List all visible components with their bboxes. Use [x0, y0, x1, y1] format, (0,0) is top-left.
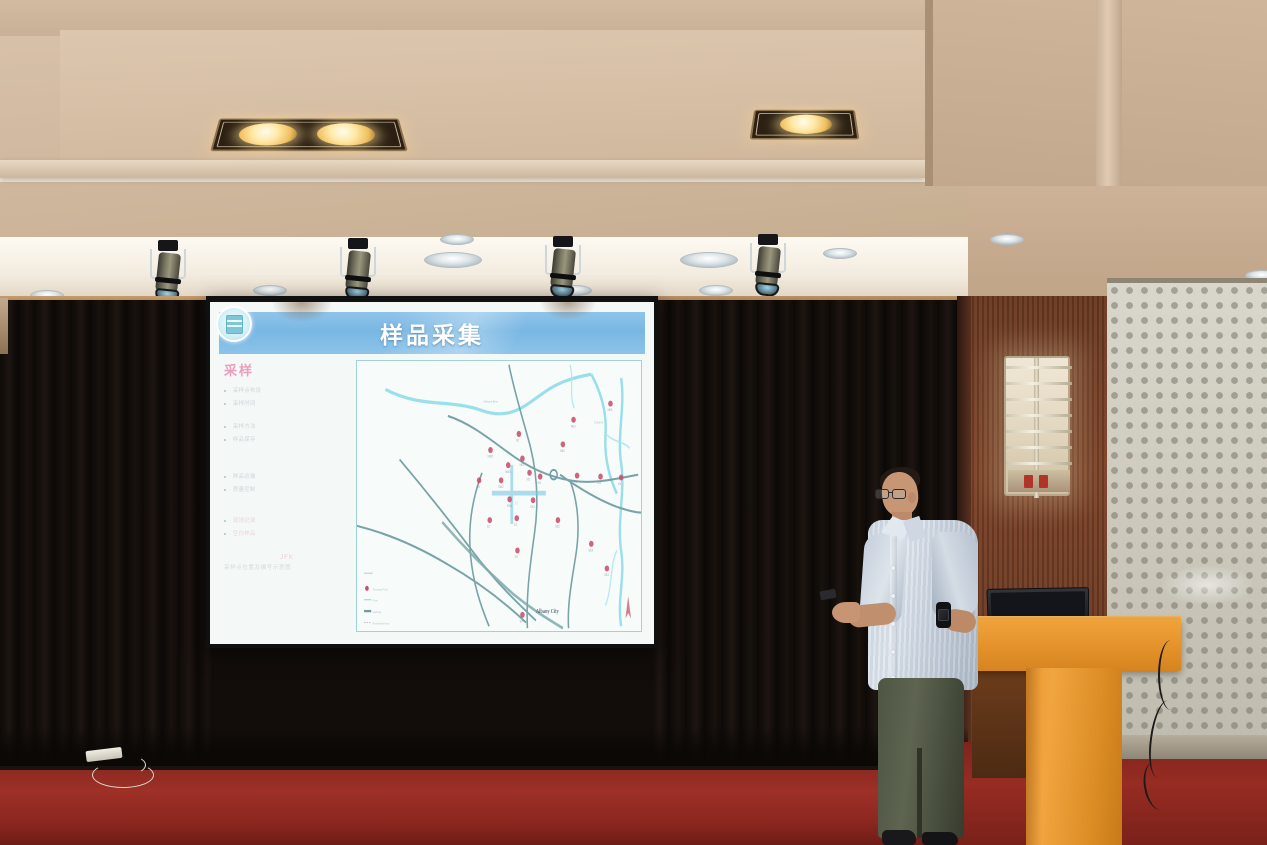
- recessed-downlight: [990, 234, 1024, 245]
- map-sampling-point-label: SE1: [530, 504, 535, 509]
- map-sampling-point: [477, 477, 482, 483]
- map-sampling-point-label: W1: [537, 481, 541, 486]
- recessed-downlight: [440, 234, 474, 245]
- map-sampling-point: [561, 441, 566, 447]
- map-sampling-point-label: SE3: [588, 548, 593, 553]
- map-sampling-point-label: NE4: [608, 408, 613, 413]
- slide-subtitle: 采样: [224, 360, 350, 379]
- recessed-downlight: [680, 252, 738, 268]
- map-sampling-point-label: W2: [476, 485, 480, 490]
- svg-text:River: River: [373, 598, 378, 603]
- shoe-right: [922, 832, 958, 845]
- stage-curtain-left: [0, 300, 214, 770]
- map-sampling-point-label: S3: [515, 555, 518, 560]
- map-sampling-point-label: SW2: [498, 485, 504, 490]
- map-sampling-point-label: NE2: [560, 449, 565, 454]
- perforated-acoustic-panel: [1107, 283, 1267, 783]
- svg-text:Highway: Highway: [373, 610, 382, 615]
- slide-footnote-label: JFK: [224, 554, 350, 561]
- map-sampling-point: [571, 417, 576, 423]
- presentation-slide: 样品采集 采样 · 采样点布设 · 采样时间 · 采样方法 · 样品保存 · 样…: [210, 302, 654, 644]
- map-river-label: Mohawk River: [483, 399, 499, 404]
- sconce-red-accent: [1039, 475, 1048, 488]
- map-sampling-point-label: E3: [598, 481, 601, 486]
- ceiling-soffit: [0, 237, 968, 300]
- ceiling-beam: [1096, 0, 1122, 210]
- map-sampling-point-label: NE3: [571, 424, 576, 429]
- slide-header-bar: 样品采集: [219, 312, 645, 354]
- ear: [908, 492, 916, 503]
- map-sampling-point: [499, 477, 504, 483]
- slide-bullet: · 质量控制: [224, 487, 350, 494]
- map-sampling-point-label: N1: [516, 438, 519, 443]
- map-sampling-point-label: NW2: [488, 454, 494, 459]
- map-sampling-point-label: S2: [487, 524, 490, 529]
- map-sampling-point: [514, 515, 519, 521]
- map-sampling-point: [598, 474, 603, 480]
- slide-bullet: · 样品保存: [224, 437, 350, 444]
- map-sampling-point-label: S1: [514, 522, 517, 527]
- map-sampling-point: [619, 474, 624, 480]
- map-sampling-point: [556, 517, 561, 523]
- svg-text:Sampling Point: Sampling Point: [373, 587, 388, 592]
- left-wall-edge: [0, 298, 8, 354]
- slide-bullet: · 空白样品: [224, 531, 350, 538]
- map-sampling-point: [506, 462, 511, 468]
- map-sampling-point: [605, 565, 610, 571]
- track-spotlight: [543, 236, 583, 302]
- map-sampling-point-label: SE2: [555, 524, 560, 529]
- map-city-label: Albany City: [536, 608, 559, 615]
- projection-screen[interactable]: 样品采集 采样 · 采样点布设 · 采样时间 · 采样方法 · 样品保存 · 样…: [210, 302, 654, 644]
- recessed-downlight: [424, 252, 482, 268]
- recessed-downlight: [253, 285, 287, 296]
- recessed-downlight: [823, 248, 857, 259]
- podium-column-shadow: [1026, 668, 1042, 845]
- presenter: [860, 462, 1000, 845]
- map-sampling-point: [531, 497, 536, 503]
- legend-red-dot-icon: [365, 586, 369, 591]
- map-sampling-point: [517, 431, 522, 437]
- recessed-downlight: [699, 285, 733, 296]
- slatted-wall-sconce: [1004, 356, 1070, 496]
- slide-bullet: · 样品运输: [224, 474, 350, 481]
- eyeglasses-icon: [875, 489, 908, 500]
- map-sampling-point: [538, 474, 543, 480]
- map-sampling-point-label: SW1: [507, 503, 513, 508]
- podium-cable: [1158, 640, 1184, 710]
- slide-footnote-text: 采样点位置及编号示意图: [224, 563, 350, 571]
- sconce-red-accent: [1024, 475, 1033, 488]
- left-hand: [832, 602, 860, 623]
- conference-hall-scene: 样品采集 采样 · 采样点布设 · 采样时间 · 采样方法 · 样品保存 · 样…: [0, 0, 1267, 845]
- trouser-seam: [917, 748, 922, 838]
- map-sampling-point: [575, 473, 580, 479]
- panel-light-reflection: [1160, 565, 1255, 605]
- ceiling-right-edge: [925, 0, 933, 186]
- slide-bullet-column: 采样 · 采样点布设 · 采样时间 · 采样方法 · 样品保存 · 样品运输 ·…: [224, 360, 350, 634]
- map-secondary-label: Colonie: [594, 420, 603, 425]
- map-sampling-point-label: NW1: [505, 469, 511, 474]
- svg-text:Residential Area: Residential Area: [373, 621, 390, 626]
- map-sampling-point: [520, 612, 525, 618]
- slide-bullet: · 现场记录: [224, 518, 350, 525]
- slide-bullet: · 采样方法: [224, 424, 350, 431]
- map-sampling-point: [487, 517, 492, 523]
- recessed-double-spotlight: [210, 118, 408, 151]
- wristwatch-icon: [936, 602, 951, 628]
- seal-glyph: [226, 315, 243, 334]
- map-sampling-point-label: E2: [574, 480, 577, 485]
- map-sampling-point: [520, 456, 525, 462]
- map-sampling-point-label: E4: [618, 482, 621, 487]
- slide-title: 样品采集: [380, 316, 484, 350]
- map-sampling-point-label: N2: [527, 477, 530, 482]
- spotlight-lens: [754, 282, 779, 297]
- recessed-double-spotlight: [750, 110, 860, 140]
- map-sampling-point-label: S4: [520, 619, 523, 624]
- slide-bullet: · 采样时间: [224, 401, 350, 408]
- map-sampling-point: [589, 541, 594, 547]
- power-cable: [92, 762, 154, 788]
- slide-bullet: · 采样点布设: [224, 388, 350, 395]
- map-canvas: N N1NE4NE3NE2NW2NW1NE1N2W1E2E3E4W2SW2SW1…: [357, 361, 641, 631]
- svg-text:N: N: [515, 500, 518, 507]
- map-sampling-point: [488, 447, 493, 453]
- map-sampling-point-label: NE1: [520, 463, 525, 468]
- map-sampling-point: [608, 401, 613, 407]
- sampling-site-map: N N1NE4NE3NE2NW2NW1NE1N2W1E2E3E4W2SW2SW1…: [356, 360, 642, 632]
- institute-seal-icon: [216, 306, 252, 342]
- ceiling-lip: [0, 160, 925, 178]
- map-sampling-point: [515, 547, 520, 553]
- shoe-left: [882, 830, 916, 845]
- track-spotlight: [338, 238, 378, 304]
- laptop-screen-bezel: [991, 591, 1086, 617]
- map-sampling-point: [507, 496, 512, 502]
- map-sampling-point-label: SE4: [604, 573, 609, 578]
- track-spotlight: [748, 234, 788, 300]
- map-sampling-point: [527, 470, 532, 476]
